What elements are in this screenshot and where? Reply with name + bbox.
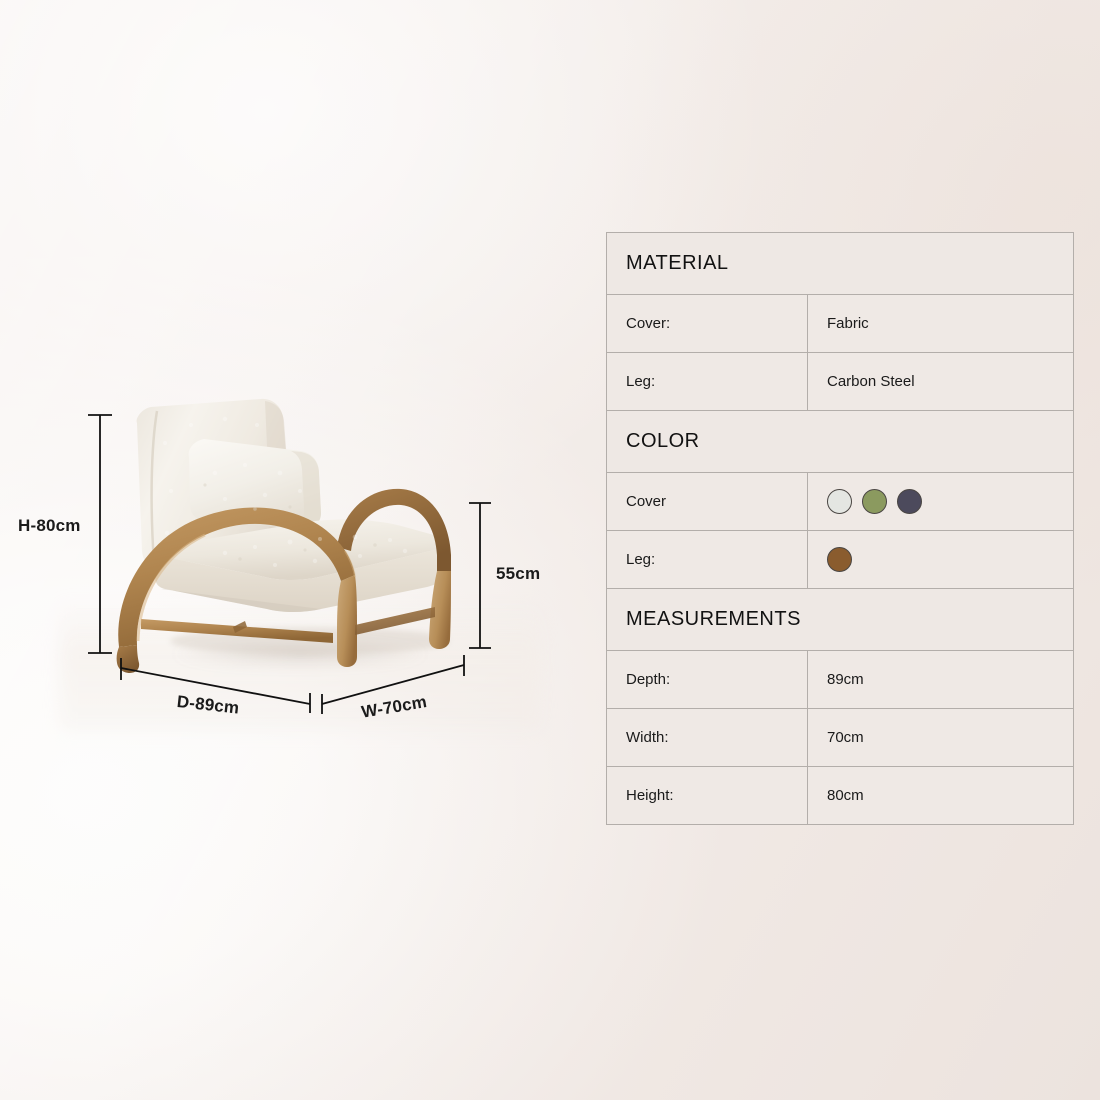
slate-navy-swatch[interactable] xyxy=(897,489,922,514)
row-value-color-leg xyxy=(808,531,1073,588)
armchair-illustration xyxy=(105,395,495,685)
row-label-material-leg: Leg: xyxy=(607,353,808,410)
walnut-brown-swatch[interactable] xyxy=(827,547,852,572)
table-row: Leg: xyxy=(607,531,1073,589)
cover-swatch-group xyxy=(827,489,922,514)
row-label-color-leg: Leg: xyxy=(607,531,808,588)
table-row: Depth: 89cm xyxy=(607,651,1073,709)
section-header-measurements: MEASUREMENTS xyxy=(607,589,1073,651)
section-header-material: MATERIAL xyxy=(607,233,1073,295)
row-value-color-cover xyxy=(808,473,1073,530)
row-label-material-cover: Cover: xyxy=(607,295,808,352)
table-row: Cover: Fabric xyxy=(607,295,1073,353)
table-row: Width: 70cm xyxy=(607,709,1073,767)
off-white-swatch[interactable] xyxy=(827,489,852,514)
row-label-color-cover: Cover xyxy=(607,473,808,530)
row-value-material-leg: Carbon Steel xyxy=(808,353,1073,410)
product-photo xyxy=(0,0,600,1100)
row-value-material-cover: Fabric xyxy=(808,295,1073,352)
row-value-measure-height: 80cm xyxy=(808,767,1073,824)
table-row: Leg: Carbon Steel xyxy=(607,353,1073,411)
row-value-measure-depth: 89cm xyxy=(808,651,1073,708)
row-value-measure-width: 70cm xyxy=(808,709,1073,766)
table-row: Cover xyxy=(607,473,1073,531)
row-label-measure-depth: Depth: xyxy=(607,651,808,708)
section-header-color: COLOR xyxy=(607,411,1073,473)
table-row: Height: 80cm xyxy=(607,767,1073,825)
row-label-measure-height: Height: xyxy=(607,767,808,824)
specification-table: MATERIAL Cover: Fabric Leg: Carbon Steel… xyxy=(606,232,1074,825)
row-label-measure-width: Width: xyxy=(607,709,808,766)
product-spec-sheet: H-80cm 55cm D-89cm W-70cm MATERIAL Cover… xyxy=(0,0,1100,1100)
olive-green-swatch[interactable] xyxy=(862,489,887,514)
leg-swatch-group xyxy=(827,547,852,572)
